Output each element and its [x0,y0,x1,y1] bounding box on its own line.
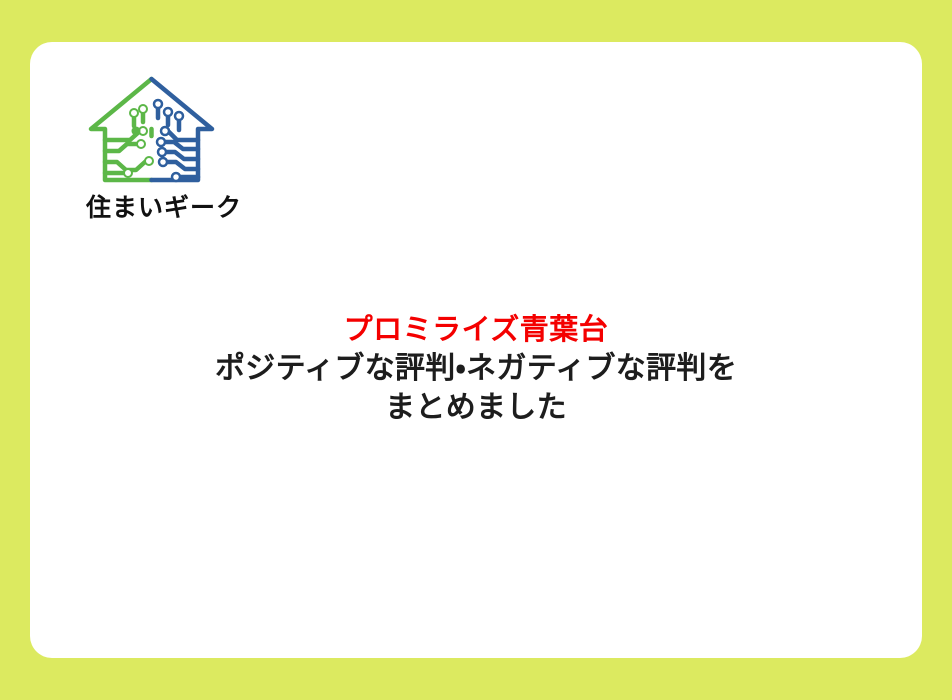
headline-subtitle: ポジティブな評判・ネガティブな評判を まとめました [30,349,922,427]
brand-block: 住まいギーク [76,70,306,222]
headline-line-2: まとめました [30,388,922,427]
headline-line-1: ポジティブな評判・ネガティブな評判を [30,349,922,388]
circuit-house-logo-icon [84,70,219,190]
slide-canvas: 住まいギーク プロミライズ青葉台 ポジティブな評判・ネガティブな評判を まとめま… [0,0,952,700]
property-name-title: プロミライズ青葉台 [30,310,922,349]
content-card: 住まいギーク プロミライズ青葉台 ポジティブな評判・ネガティブな評判を まとめま… [30,42,922,658]
headline-block: プロミライズ青葉台 ポジティブな評判・ネガティブな評判を まとめました [30,310,922,427]
brand-name-label: 住まいギーク [86,194,306,222]
